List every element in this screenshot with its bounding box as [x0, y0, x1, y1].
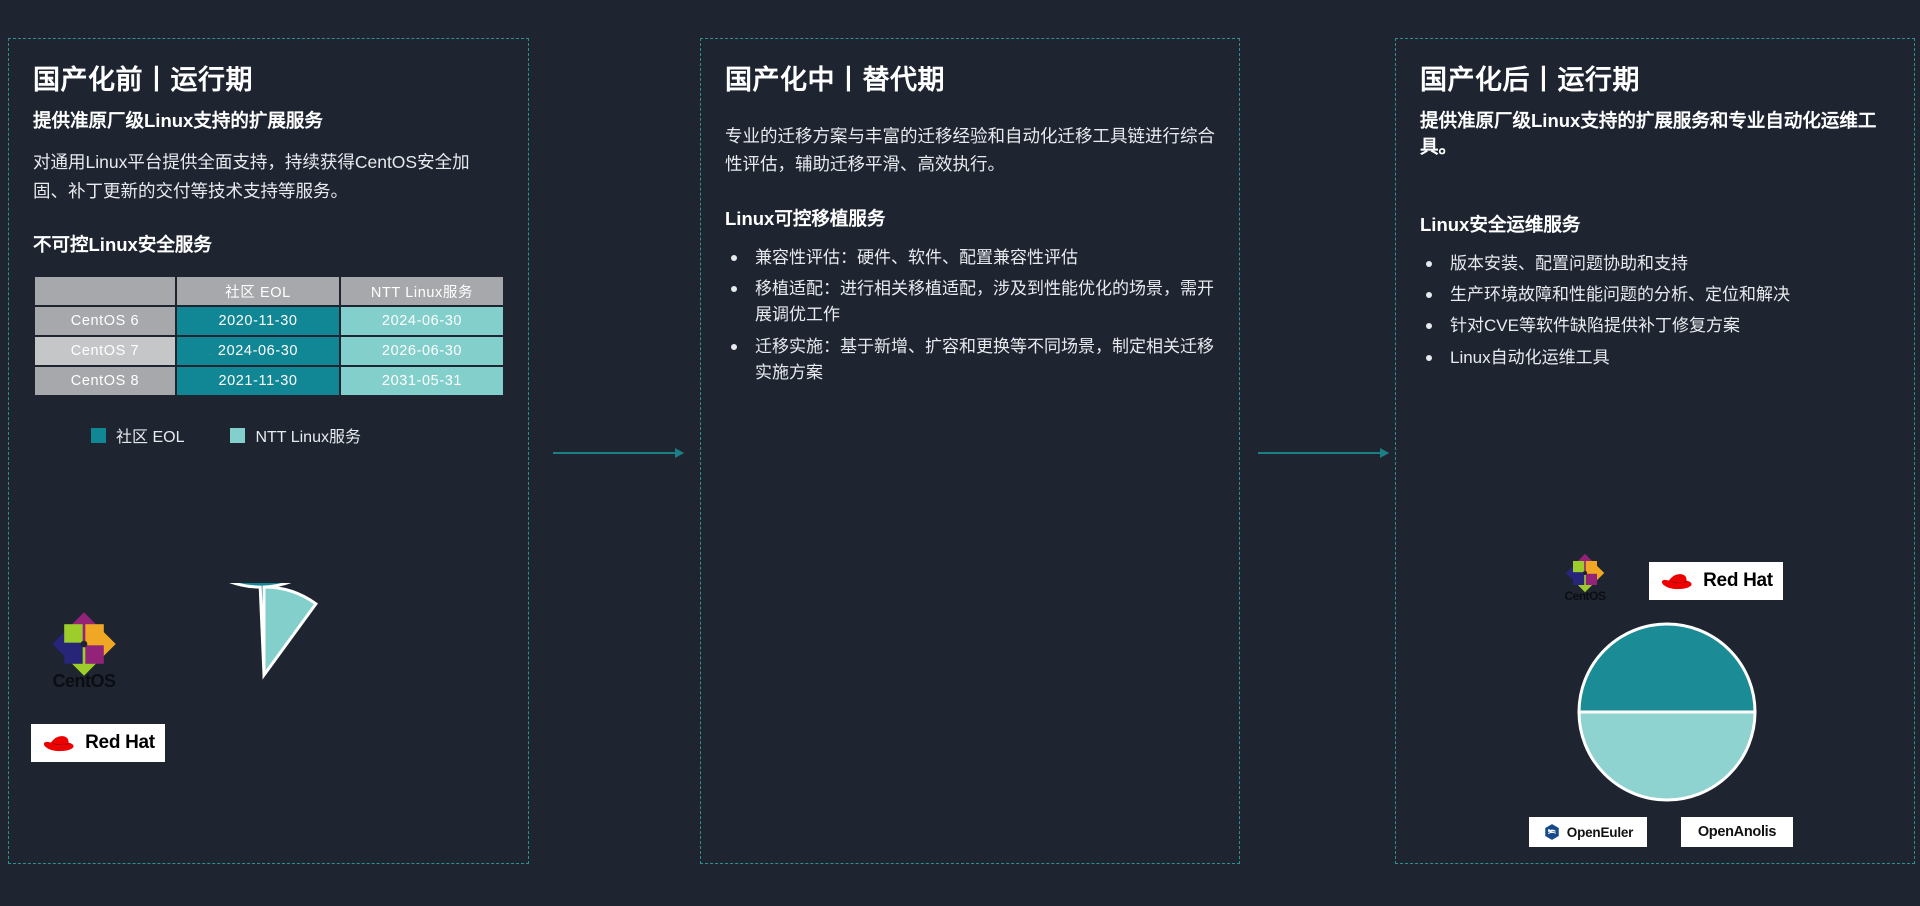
panel-during-localization: 国产化中丨替代期 专业的迁移方案与丰富的迁移经验和自动化迁移工具链进行综合性评估… — [700, 38, 1240, 864]
list-item: 版本安装、配置问题协助和支持 — [1420, 251, 1890, 277]
row-label-centos6: CentOS 6 — [35, 307, 175, 335]
redhat-logo: Red Hat — [31, 724, 165, 762]
chart-legend: 社区 EOL NTT Linux服务 — [33, 423, 504, 447]
cell-eol-centos7: 2024-06-30 — [177, 337, 339, 365]
bullet-list: 兼容性评估：硬件、软件、配置兼容性评估 移植适配：进行相关移植适配，涉及到性能优… — [725, 245, 1215, 387]
panel-after-localization: 国产化后丨运行期 提供准原厂级Linux支持的扩展服务和专业自动化运维工具。 L… — [1395, 38, 1915, 864]
pie-chart-svg — [172, 583, 356, 767]
section-heading: 不可控Linux安全服务 — [33, 231, 504, 257]
panel-subtitle: 提供准原厂级Linux支持的扩展服务 — [33, 108, 504, 134]
arrow-1-to-2 — [553, 452, 683, 454]
legend-item-ntt-linux: NTT Linux服务 — [230, 423, 361, 447]
panel-subtitle: 提供准原厂级Linux支持的扩展服务和专业自动化运维工具。 — [1420, 108, 1890, 161]
table-row: CentOS 6 2020-11-30 2024-06-30 — [35, 307, 503, 335]
list-item: 移植适配：进行相关移植适配，涉及到性能优化的场景，需开展调优工作 — [725, 276, 1215, 329]
arrow-2-to-3 — [1258, 452, 1388, 454]
row-label-centos8: CentOS 8 — [35, 367, 175, 395]
slide-canvas: 国产化前丨运行期 提供准原厂级Linux支持的扩展服务 对通用Linux平台提供… — [0, 0, 1920, 906]
panel-body-text: 对通用Linux平台提供全面支持，持续获得CentOS安全加固、补丁更新的交付等… — [33, 148, 504, 205]
pie-slice-ntt-linux — [264, 587, 316, 675]
panel-before-localization: 国产化前丨运行期 提供准原厂级Linux支持的扩展服务 对通用Linux平台提供… — [8, 38, 529, 864]
pie-chart-panel-1 — [172, 583, 356, 772]
section-heading: Linux安全运维服务 — [1420, 211, 1890, 237]
legend-swatch-icon — [91, 428, 106, 443]
centos-logo: CentOS — [41, 611, 127, 692]
cell-eol-centos6: 2020-11-30 — [177, 307, 339, 335]
list-item: 兼容性评估：硬件、软件、配置兼容性评估 — [725, 245, 1215, 271]
legend-item-community-eol: 社区 EOL — [91, 423, 184, 447]
list-item: 生产环境故障和性能问题的分析、定位和解决 — [1420, 282, 1890, 308]
table-row: CentOS 7 2024-06-30 2026-06-30 — [35, 337, 503, 365]
list-item: 针对CVE等软件缺陷提供补丁修复方案 — [1420, 313, 1890, 339]
cell-ntt-centos8: 2031-05-31 — [341, 367, 503, 395]
list-item: 迁移实施：基于新增、扩容和更换等不同场景，制定相关迁移实施方案 — [725, 334, 1215, 387]
eol-table: 社区 EOL NTT Linux服务 CentOS 6 2020-11-30 2… — [33, 275, 505, 397]
table-row: CentOS 8 2021-11-30 2031-05-31 — [35, 367, 503, 395]
row-label-centos7: CentOS 7 — [35, 337, 175, 365]
redhat-fedora-icon — [41, 730, 77, 756]
table-corner-cell — [35, 277, 175, 305]
table-header-ntt-linux: NTT Linux服务 — [341, 277, 503, 305]
page-title: 国产化前丨运行期 — [33, 65, 504, 96]
pie-slice-community-eol — [172, 583, 348, 675]
cell-ntt-centos6: 2024-06-30 — [341, 307, 503, 335]
section-heading: Linux可控移植服务 — [725, 205, 1215, 231]
legend-label: 社区 EOL — [116, 423, 184, 447]
list-item: Linux自动化运维工具 — [1420, 345, 1890, 371]
redhat-logo-label: Red Hat — [85, 732, 155, 754]
table-header-row: 社区 EOL NTT Linux服务 — [35, 277, 503, 305]
panel-body-text: 专业的迁移方案与丰富的迁移经验和自动化迁移工具链进行综合性评估，辅助迁移平滑、高… — [725, 122, 1215, 179]
legend-label: NTT Linux服务 — [255, 423, 361, 447]
centos-mark-icon — [51, 611, 117, 677]
cell-ntt-centos7: 2026-06-30 — [341, 337, 503, 365]
table-header-community-eol: 社区 EOL — [177, 277, 339, 305]
cell-eol-centos8: 2021-11-30 — [177, 367, 339, 395]
page-title: 国产化后丨运行期 — [1420, 65, 1890, 96]
legend-swatch-icon — [230, 428, 245, 443]
bullet-list: 版本安装、配置问题协助和支持 生产环境故障和性能问题的分析、定位和解决 针对CV… — [1420, 251, 1890, 371]
page-title: 国产化中丨替代期 — [725, 65, 1215, 96]
centos-logo-label: CentOS — [41, 671, 127, 692]
